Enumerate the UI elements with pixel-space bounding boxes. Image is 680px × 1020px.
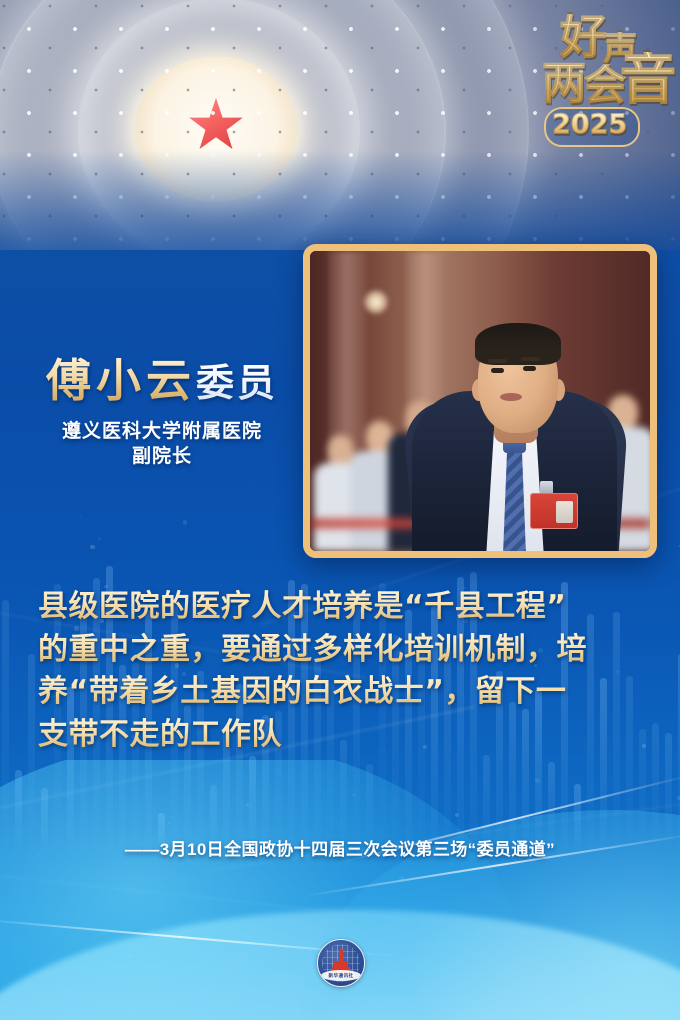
speaker-role: 委员 xyxy=(196,361,278,405)
sparkle-dot xyxy=(183,520,187,524)
speaker-portrait xyxy=(303,244,657,558)
program-logo: 好 声 两 会 音 2025 xyxy=(548,14,672,154)
portrait-subject xyxy=(418,251,608,551)
speaker-org-line-1: 遵义医科大学附属医院 xyxy=(28,419,296,444)
subject-brow-right xyxy=(521,357,540,361)
emblem-circle: 新华通讯社 xyxy=(317,939,365,987)
sparkle-dot xyxy=(90,545,95,550)
badge-photo xyxy=(556,501,573,523)
quote-line: 支带不走的工作队 xyxy=(38,714,644,757)
speaker-name-line: 傅小云委员 xyxy=(28,358,296,403)
logo-char-liang: 两 xyxy=(542,62,586,106)
quote-line: 养“带着乡土基因的白衣战士”，留下一 xyxy=(38,671,644,714)
logo-char-yin: 音 xyxy=(620,52,676,108)
quote-attribution: ——3月10日全国政协十四届三次会议第三场“委员通道” xyxy=(0,835,680,860)
speaker-organization: 遵义医科大学附属医院 副院长 xyxy=(28,419,296,469)
logo-year-label: 2025 xyxy=(552,111,627,138)
xinhua-emblem-icon: 新华通讯社 xyxy=(317,936,363,990)
speaker-info: 傅小云委员 遵义医科大学附属医院 副院长 xyxy=(28,358,296,469)
subject-eye-left xyxy=(491,368,504,373)
portrait-image xyxy=(310,251,650,551)
subject-mouth xyxy=(500,393,522,401)
sparkle-dot xyxy=(98,537,101,540)
speaker-org-line-2: 副院长 xyxy=(28,444,296,469)
emblem-name-text: 新华通讯社 xyxy=(321,970,361,981)
subject-brow-left xyxy=(488,359,507,363)
sparkle-dot xyxy=(79,516,81,518)
subject-id-badge xyxy=(530,493,578,529)
quote-line: 县级医院的医疗人才培养是“千县工程” xyxy=(38,586,644,629)
logo-char-hao: 好 xyxy=(560,14,607,61)
quote-block: 县级医院的医疗人才培养是“千县工程” 的重中之重，要通过多样化培训机制，培 养“… xyxy=(38,586,644,756)
subject-eye-right xyxy=(523,366,536,371)
speaker-name: 傅小云 xyxy=(46,354,196,407)
quote-line: 的重中之重，要通过多样化培训机制，培 xyxy=(38,629,644,672)
poster-root: 好 声 两 会 音 2025 xyxy=(0,0,680,1020)
portrait-lamp xyxy=(363,289,389,315)
